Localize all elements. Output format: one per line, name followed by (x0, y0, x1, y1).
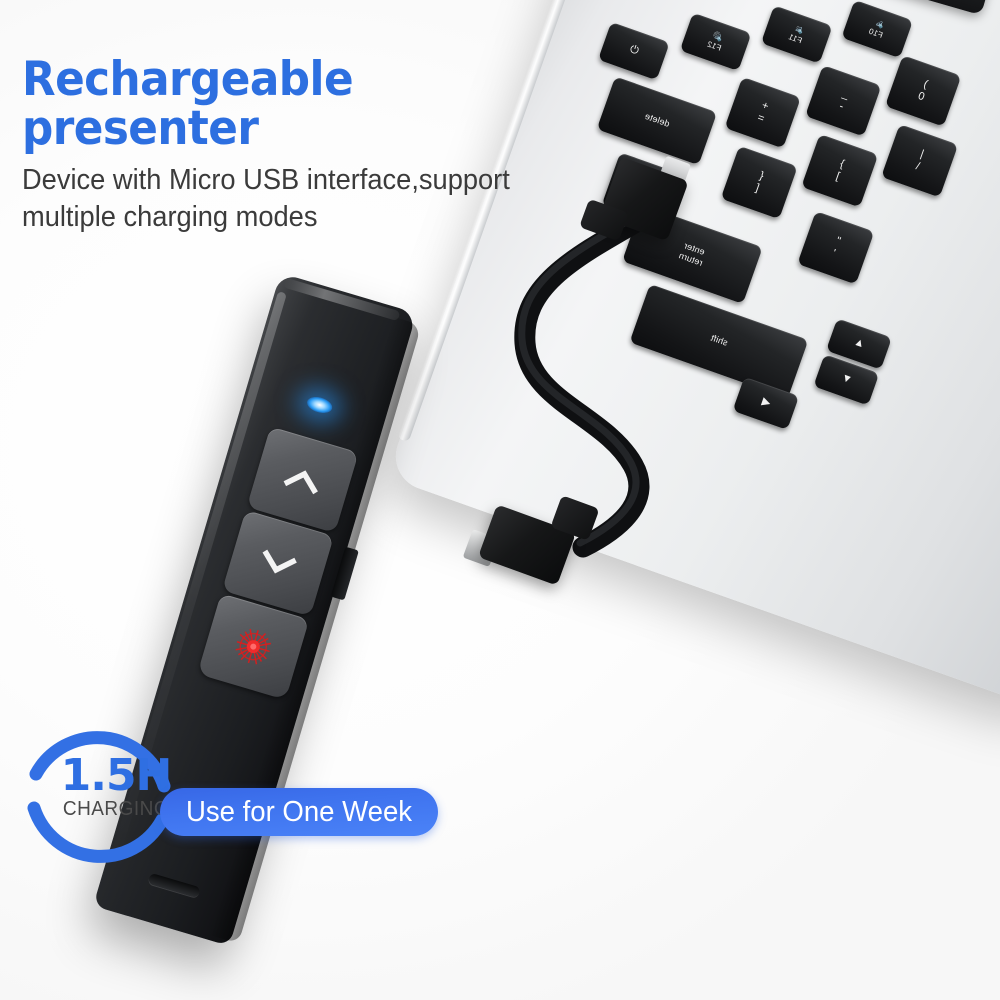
charging-hours: 1.5H (50, 755, 182, 797)
chevron-down-icon (254, 546, 301, 581)
page-title: Rechargeable presenter (22, 56, 580, 154)
charging-badge: 1.5H CHARGING Use for One Week (14, 712, 464, 882)
key-f11[interactable]: 🔉F11 (761, 5, 833, 63)
key-quote[interactable]: "' (797, 211, 874, 284)
page-subtitle: Device with Micro USB interface,support … (22, 162, 586, 237)
key-zero[interactable]: )0 (885, 55, 961, 127)
key-f12[interactable]: 🔊F12 (680, 13, 752, 71)
laser-burst-icon (228, 622, 278, 672)
product-marketing-image: ⏻🔊F12🔉F11🔈F10delete+=_-)0{[}]|\|\"'enter… (0, 0, 1000, 1000)
usage-duration-text: Use for One Week (186, 798, 412, 827)
key-minus[interactable]: _- (805, 65, 881, 137)
key-pbrack[interactable]: |\ (881, 124, 958, 197)
usage-duration-pill: Use for One Week (160, 788, 438, 836)
key-rbrack[interactable]: }] (801, 134, 878, 207)
marketing-copy: Rechargeable presenter Device with Micro… (22, 56, 622, 237)
chevron-up-icon (279, 462, 326, 497)
key-equal[interactable]: += (724, 77, 800, 149)
